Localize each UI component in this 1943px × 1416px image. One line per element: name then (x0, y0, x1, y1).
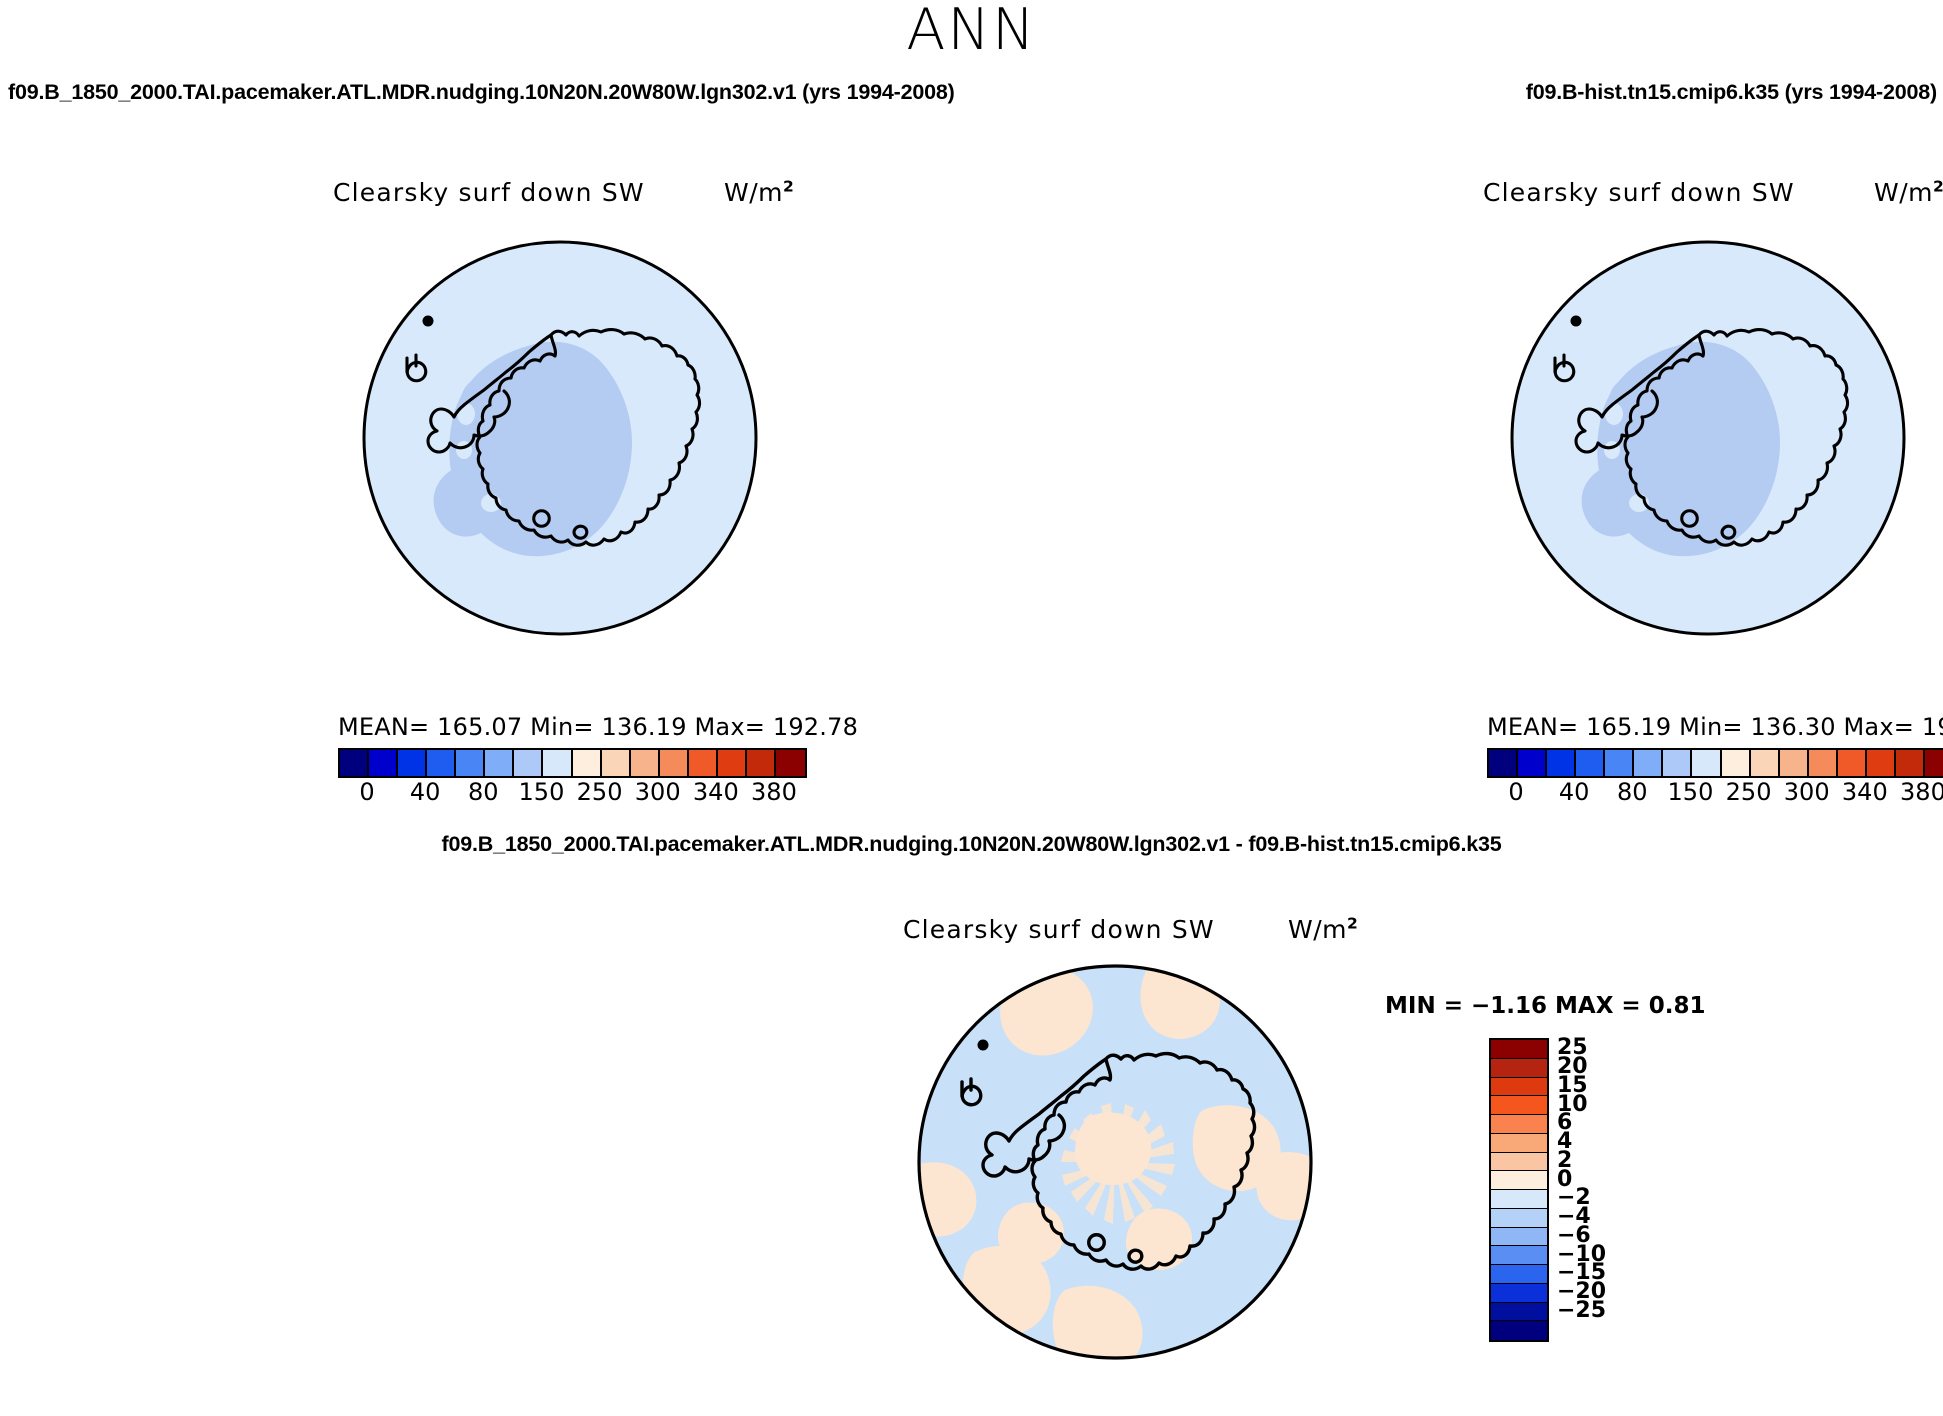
island-dot-right (1571, 316, 1582, 327)
colorbar-cell (427, 750, 456, 776)
colorbar-right-cells (1487, 748, 1943, 778)
colorbar-tick-label: −25 (1557, 1300, 1606, 1322)
colorbar-cell (1751, 750, 1780, 776)
variable-label-right: Clearsky surf down SW (1483, 178, 1795, 207)
colorbar-cell (1491, 1303, 1547, 1322)
units-exponent-diff: 2 (1347, 915, 1358, 933)
colorbar-cell (1491, 1078, 1547, 1097)
colorbar-cell (1491, 1190, 1547, 1209)
colorbar-tick-label: 300 (1784, 778, 1830, 806)
colorbar-cell (1809, 750, 1838, 776)
colorbar-tick-label: 340 (693, 778, 739, 806)
colorbar-cell (1518, 750, 1547, 776)
units-exponent-left: 2 (783, 178, 794, 196)
units-label-row-diff: W/m2 (1288, 915, 1358, 944)
colorbar-difference-cells (1489, 1038, 1549, 1342)
case-header-left: f09.B_1850_2000.TAI.pacemaker.ATL.MDR.nu… (8, 80, 955, 105)
colorbar-cell (1491, 1171, 1547, 1190)
colorbar-cell (1491, 1115, 1547, 1134)
shading-hole-r1 (1605, 403, 1623, 425)
colorbar-cell (398, 750, 427, 776)
colorbar-cell (1489, 750, 1518, 776)
map-right (1508, 236, 1908, 640)
colorbar-tick-label: 150 (1668, 778, 1714, 806)
colorbar-cell (369, 750, 398, 776)
colorbar-cell (1896, 750, 1925, 776)
var-label-row-diff: Clearsky surf down SW (903, 915, 1215, 944)
colorbar-tick-label: 80 (468, 778, 499, 806)
difference-header: f09.B_1850_2000.TAI.pacemaker.ATL.MDR.nu… (0, 832, 1943, 857)
colorbar-tick-label: 40 (1559, 778, 1590, 806)
colorbar-cell (1663, 750, 1692, 776)
colorbar-tick-label: 300 (635, 778, 681, 806)
colorbar-cell (602, 750, 631, 776)
colorbar-cell (1547, 750, 1576, 776)
colorbar-cell (1491, 1228, 1547, 1247)
colorbar-cell (340, 750, 369, 776)
colorbar-cell (456, 750, 485, 776)
colorbar-cell (1491, 1265, 1547, 1284)
difference-minmax: MIN = −1.16 MAX = 0.81 (1385, 993, 1705, 1019)
colorbar-tick-label: 250 (577, 778, 623, 806)
stats-right: MEAN= 165.19 Min= 136.30 Max= 192.51 (1487, 713, 1943, 741)
colorbar-tick-label: 40 (410, 778, 441, 806)
colorbar-right: 04080150250300340380 (1487, 748, 1943, 812)
colorbar-cell (1491, 1246, 1547, 1265)
colorbar-cell (1491, 1134, 1547, 1153)
colorbar-cell (776, 750, 805, 776)
units-exponent-right: 2 (1933, 178, 1943, 196)
colorbar-cell (1692, 750, 1721, 776)
colorbar-cell (1867, 750, 1896, 776)
colorbar-cell (718, 750, 747, 776)
diff-peach-2 (1140, 960, 1219, 1039)
variable-label-diff: Clearsky surf down SW (903, 915, 1215, 944)
shading-hole-1 (457, 403, 475, 425)
colorbar-cell (660, 750, 689, 776)
colorbar-cell (1491, 1040, 1547, 1059)
colorbar-cell (1925, 750, 1943, 776)
colorbar-difference-labels: 252015106420−2−4−6−10−15−20−25 (1557, 1027, 1677, 1349)
colorbar-left: 04080150250300340380 (338, 748, 807, 812)
island-dot-diff (978, 1040, 989, 1051)
colorbar-difference: 252015106420−2−4−6−10−15−20−25 (1489, 1038, 1549, 1342)
stats-left: MEAN= 165.07 Min= 136.19 Max= 192.78 (338, 713, 858, 741)
colorbar-cell (1634, 750, 1663, 776)
units-label-row-right: W/m2 (1874, 178, 1943, 207)
case-header-right: f09.B-hist.tn15.cmip6.k35 (yrs 1994-2008… (1526, 80, 1937, 105)
colorbar-cell (1576, 750, 1605, 776)
diff-peach-10 (998, 1202, 1064, 1264)
variable-label-left: Clearsky surf down SW (333, 178, 645, 207)
colorbar-tick-label: 340 (1842, 778, 1888, 806)
map-left (360, 236, 760, 640)
units-label-right: W/m (1874, 178, 1933, 207)
colorbar-tick-label: 380 (751, 778, 797, 806)
colorbar-cell (1491, 1153, 1547, 1172)
colorbar-tick-label: 80 (1617, 778, 1648, 806)
figure-title: ANN (0, 2, 1943, 59)
colorbar-tick-label: 380 (1900, 778, 1943, 806)
colorbar-left-cells (338, 748, 807, 778)
units-label-diff: W/m (1288, 915, 1347, 944)
map-difference (915, 960, 1315, 1364)
colorbar-cell (1605, 750, 1634, 776)
colorbar-cell (573, 750, 602, 776)
colorbar-cell (689, 750, 718, 776)
colorbar-cell (1838, 750, 1867, 776)
colorbar-cell (485, 750, 514, 776)
colorbar-tick-label: 150 (519, 778, 565, 806)
colorbar-left-ticks: 04080150250300340380 (338, 778, 803, 812)
colorbar-cell (543, 750, 572, 776)
units-label-row-left: W/m2 (724, 178, 794, 207)
units-label-left: W/m (724, 178, 783, 207)
colorbar-tick-label: 0 (359, 778, 374, 806)
colorbar-tick-label: 0 (1508, 778, 1523, 806)
colorbar-cell (1780, 750, 1809, 776)
colorbar-cell (514, 750, 543, 776)
colorbar-cell (1491, 1284, 1547, 1303)
colorbar-cell (1491, 1321, 1547, 1340)
colorbar-right-ticks: 04080150250300340380 (1487, 778, 1943, 812)
island-dot-left (423, 316, 434, 327)
colorbar-cell (631, 750, 660, 776)
colorbar-cell (747, 750, 776, 776)
colorbar-cell (1491, 1059, 1547, 1078)
colorbar-tick-label: 250 (1726, 778, 1772, 806)
colorbar-cell (1491, 1209, 1547, 1228)
colorbar-cell (1722, 750, 1751, 776)
colorbar-cell (1491, 1096, 1547, 1115)
var-label-row-left: Clearsky surf down SW (333, 178, 645, 207)
var-label-row-right: Clearsky surf down SW (1483, 178, 1795, 207)
